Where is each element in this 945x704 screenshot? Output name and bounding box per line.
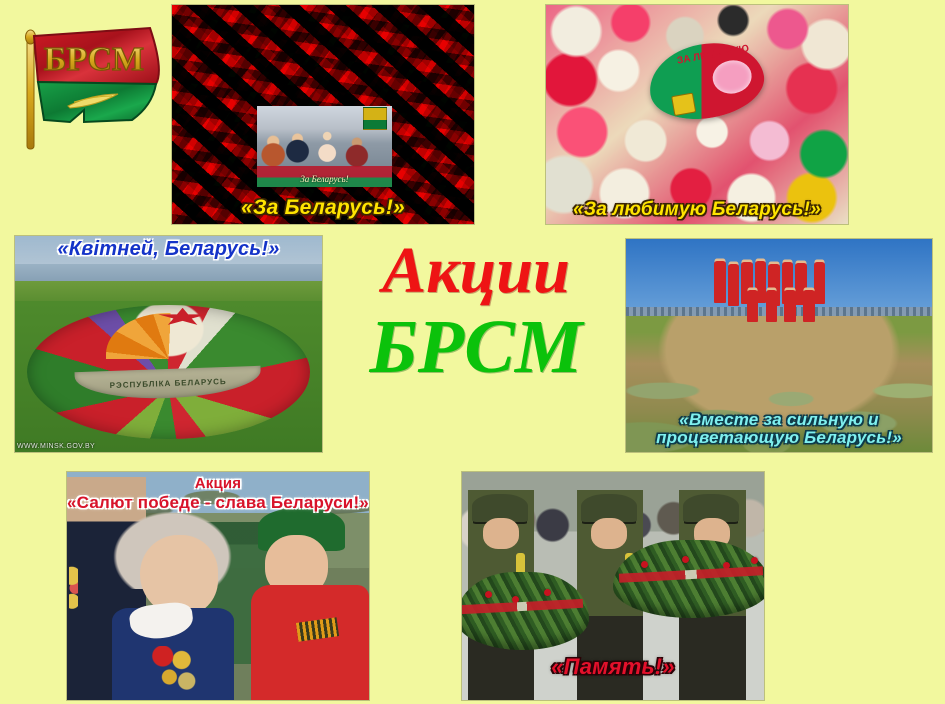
inset-crowd-photo: За Беларусь! xyxy=(257,106,393,187)
ribbons-scene: За Беларусь! xyxy=(172,5,474,224)
logo-text: БРСМ xyxy=(44,41,144,78)
volunteer-group xyxy=(712,258,847,326)
photo-vmeste-za-silnuyu: «Вместе за сильную и процветающую Белару… xyxy=(626,239,932,452)
officer-face xyxy=(483,518,519,549)
brsm-logo: БРСМ xyxy=(14,10,174,170)
sun-rays-icon xyxy=(106,313,230,359)
veteran-woman xyxy=(109,508,236,700)
inner-heart-icon xyxy=(710,58,754,97)
photo-kvitney-belarus: РЭСПУБЛІКА БЕЛАРУСЬ WWW.MINSK.GOV.BY «Кв… xyxy=(15,236,322,452)
floral-ribbon-text: РЭСПУБЛІКА БЕЛАРУСЬ xyxy=(75,366,262,402)
red-tshirt xyxy=(251,585,369,700)
minsk-gov-watermark: WWW.MINSK.GOV.BY xyxy=(17,443,95,450)
flowerbed-scene: РЭСПУБЛІКА БЕЛАРУСЬ WWW.MINSK.GOV.BY xyxy=(15,236,322,452)
brsm-emblem-icon: БРСМ xyxy=(14,10,174,170)
man-medals xyxy=(69,566,78,615)
photo-pamyat: «Память!» xyxy=(462,472,764,700)
brsm-volunteer-girl xyxy=(248,508,369,700)
woman-medals xyxy=(150,646,201,696)
bushes-layer xyxy=(626,350,932,452)
wreath-2 xyxy=(613,540,764,618)
title-line-2: БРСМ xyxy=(330,308,622,388)
inset-banner-text: За Беларусь! xyxy=(257,174,393,184)
hearts-scene: ЗА ЛЮБИМУЮ xyxy=(546,5,848,224)
wreath-1 xyxy=(462,572,589,650)
wreaths-scene xyxy=(462,472,764,700)
photo-salyut-pobede: Акция «Салют победе - слава Беларуси!» xyxy=(67,472,369,700)
heart-sticker xyxy=(670,93,696,116)
crowd-figures xyxy=(257,122,393,169)
hillside-scene xyxy=(626,239,932,452)
slide-title: Акции БРСМ xyxy=(330,238,622,388)
floral-coat-of-arms: РЭСПУБЛІКА БЕЛАРУСЬ xyxy=(27,305,309,439)
title-line-1: Акции xyxy=(330,238,622,304)
photo-za-lyubimuyu-belarus: ЗА ЛЮБИМУЮ «За любимую Беларусь!» xyxy=(546,5,848,224)
officer-face xyxy=(591,518,627,549)
photo-za-belarus: За Беларусь! «За Беларусь!» xyxy=(172,5,474,224)
flag-pole-icon xyxy=(26,30,36,149)
slide-canvas: БРСМ За Беларусь! «За Беларусь!» ЗА ЛЮБИ… xyxy=(0,0,945,704)
veteran-scene xyxy=(67,472,369,700)
